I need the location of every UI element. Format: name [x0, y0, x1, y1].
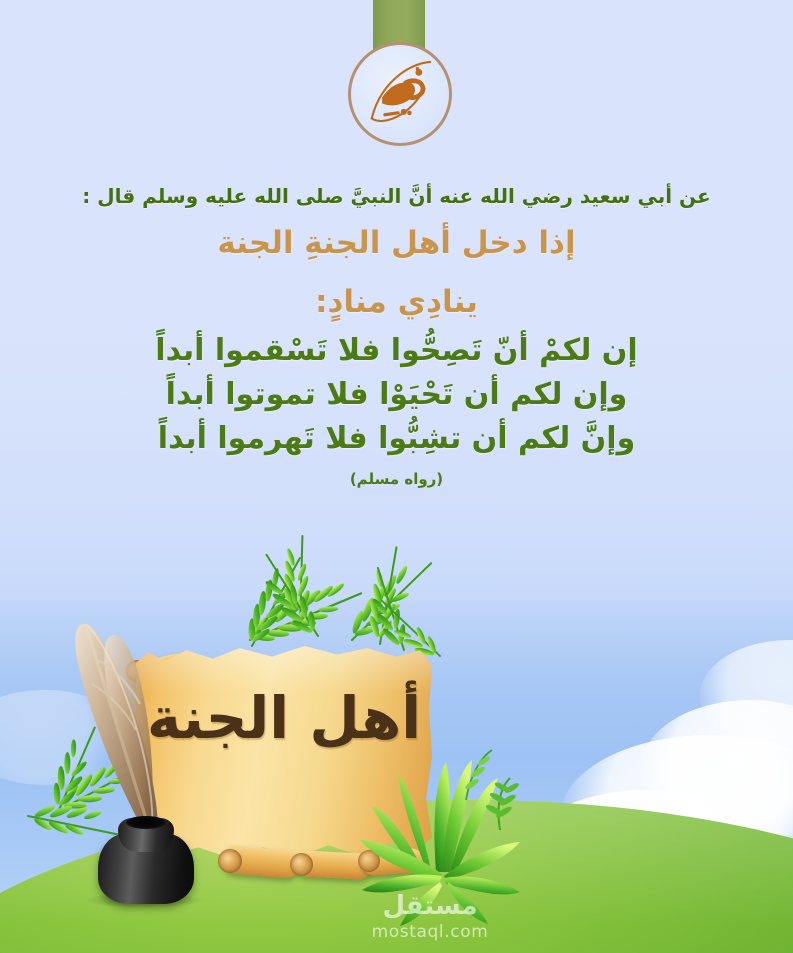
black-inkwell: [98, 812, 194, 904]
scroll-roll-cap-bottom-c: [358, 850, 380, 872]
brand-logo[interactable]: [348, 42, 452, 146]
hadith-poster: عن أبي سعيد رضي الله عنه أنَّ النبيَّ صل…: [0, 0, 793, 953]
scroll-roll-cap-bottom-a: [218, 849, 242, 873]
hadith-title-line: إذا دخل أهل الجنةِ الجنة: [0, 228, 793, 259]
hadith-source-attribution: (رواه مسلم): [0, 472, 793, 487]
caller-line: ينادِي منادٍ:: [0, 287, 793, 318]
hadith-text-block: عن أبي سعيد رضي الله عنه أنَّ النبيَّ صل…: [0, 186, 793, 487]
narrator-line: عن أبي سعيد رضي الله عنه أنَّ النبيَّ صل…: [0, 186, 793, 206]
scroll-roll-cap-bottom-b: [290, 853, 313, 876]
hadith-body-line-1: إن لكمْ أنّ تَصِحُّوا فلا تَسْقموا أبداً: [0, 336, 793, 366]
hadith-body-line-2: وإن لكم أن تَحْيَوْا فلا تموتوا أبداً: [0, 380, 793, 410]
inkwell-opening: [126, 816, 166, 829]
khair-calligraphy-icon: [351, 45, 449, 143]
hadith-body-line-3: وإنَّ لكم أن تشِبُّوا فلا تَهرموا أبداً: [0, 424, 793, 454]
scroll-calligraphy: أهل الجنة: [136, 684, 432, 752]
